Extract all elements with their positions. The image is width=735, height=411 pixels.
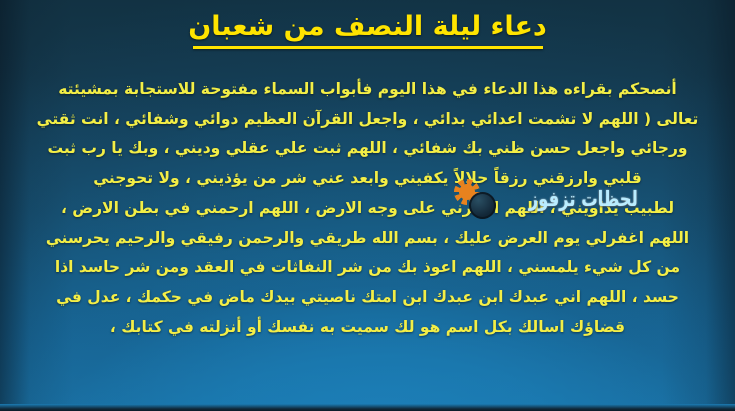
dua-body-text: أنصحكم بقراءه هذا الدعاء في هذا اليوم فأ… [16, 75, 719, 343]
body-line: قلبي وارزقني رزقاً حلالاً يكفيني وابعد ع… [26, 164, 709, 194]
body-line: قضاؤك اسالك بكل اسم هو لك سميت به نفسك أ… [26, 313, 709, 343]
slide-content: دعاء ليلة النصف من شعبان أنصحكم بقراءه ه… [0, 0, 735, 411]
body-line: من كل شيء يلمسني ، اللهم اعوذ بك من شر ا… [26, 253, 709, 283]
title-underline [193, 46, 543, 49]
body-line: لطبيب يداويني ، اللهم استرني على وجه الا… [26, 194, 709, 224]
page-title: دعاء ليلة النصف من شعبان [16, 10, 719, 44]
body-line: حسد ، اللهم اني عبدك ابن عبدك ابن امتك ن… [26, 283, 709, 313]
body-line: اللهم اغفرلي يوم العرض عليك ، بسم الله ط… [26, 224, 709, 254]
body-line: تعالى ( اللهم لا تشمت اعدائي بدائي ، واج… [26, 105, 709, 135]
body-line: ورجائي واجعل حسن ظني بك شفائي ، اللهم ثب… [26, 134, 709, 164]
slide-canvas: دعاء ليلة النصف من شعبان أنصحكم بقراءه ه… [0, 0, 735, 411]
body-line: أنصحكم بقراءه هذا الدعاء في هذا اليوم فأ… [26, 75, 709, 105]
